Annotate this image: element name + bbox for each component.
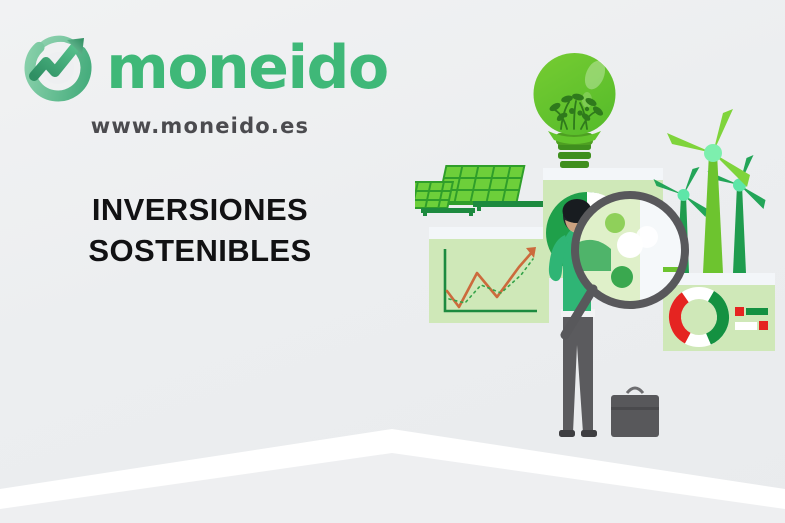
chevron-svg — [0, 413, 785, 523]
light-bulb-icon — [534, 53, 616, 176]
brand-site-url: www.moneido.es — [0, 114, 400, 138]
solar-panels-icon — [415, 165, 551, 216]
brand-wordmark: moneido — [106, 38, 387, 98]
promo-banner: moneido www.moneido.es INVERSIONES SOSTE… — [0, 0, 785, 523]
brand-block: moneido www.moneido.es — [0, 26, 400, 138]
headline-line-2: SOSTENIBLES — [0, 231, 400, 272]
line-chart-card — [429, 227, 549, 323]
page-title: INVERSIONES SOSTENIBLES — [0, 190, 400, 272]
sustainable-investment-illustration — [415, 45, 785, 455]
headline-line-1: INVERSIONES — [0, 190, 400, 231]
donut-chart-card — [663, 273, 775, 351]
illustration-canvas — [415, 45, 785, 455]
logo-row: moneido — [0, 26, 400, 110]
bottom-chevron-shape — [0, 413, 785, 523]
circular-arrow-growth-icon — [12, 26, 104, 110]
